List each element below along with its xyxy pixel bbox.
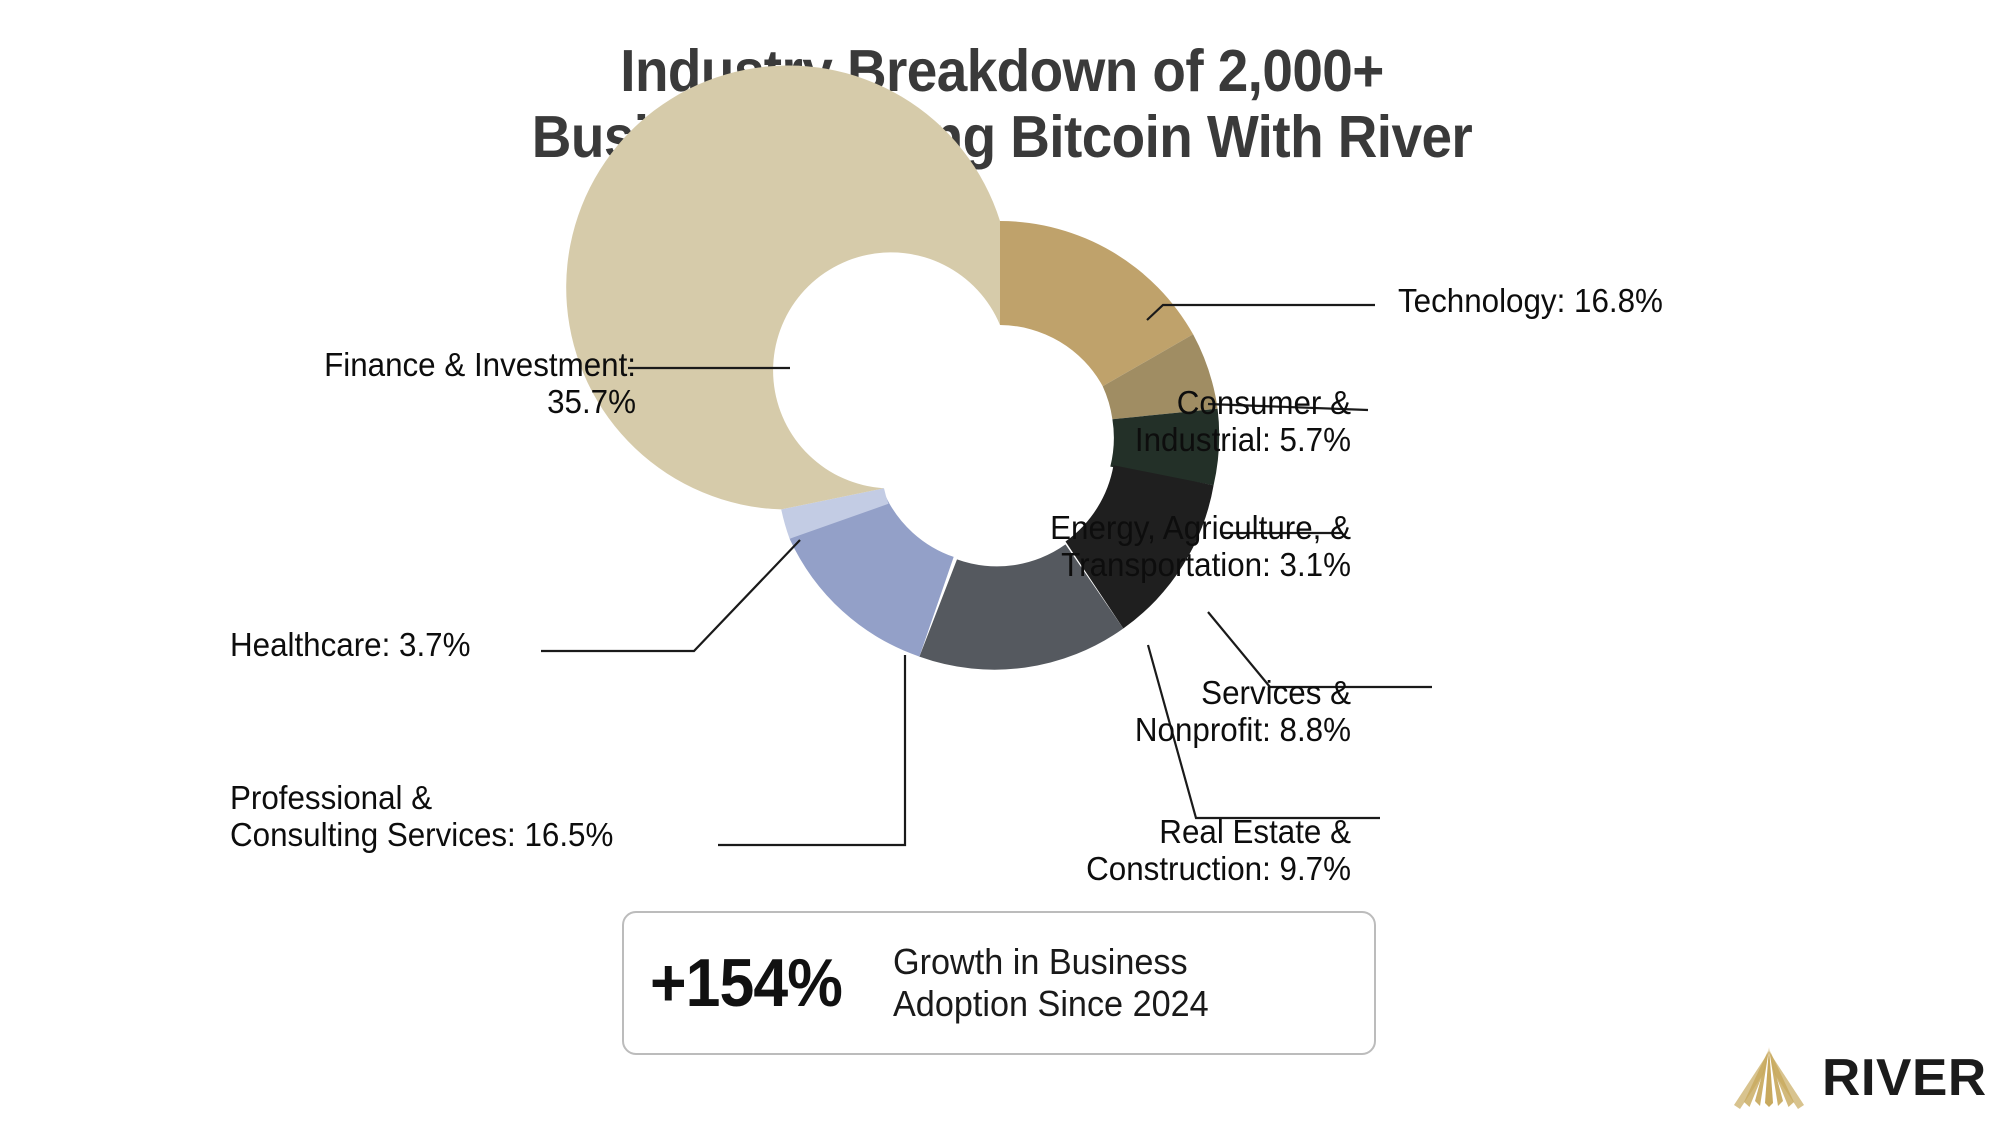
leader-line-professional [718,655,905,845]
river-wordmark: RIVER [1822,1052,1987,1104]
pie-label-services-nonprofit: Services & Nonprofit: 8.8% [952,675,1351,749]
river-mark-icon [1730,1045,1808,1111]
pie-label-technology: Technology: 16.8% [1398,283,1663,320]
stat-description: Growth in Business Adoption Since 2024 [893,941,1209,1025]
pie-label-consumer-industrial: Consumer & Industrial: 5.7% [952,385,1351,459]
leader-line-healthcare [541,540,800,651]
slice-technology[interactable] [1000,221,1193,386]
stat-value: +154% [650,944,842,1022]
page-title: Industry Breakdown of 2,000+ Businesses … [70,38,1934,170]
stat-callout-box: +154% Growth in Business Adoption Since … [622,911,1376,1055]
pie-label-finance: Finance & Investment: 35.7% [247,347,637,421]
pie-label-real-estate: Real Estate & Construction: 9.7% [952,814,1351,888]
pie-label-healthcare: Healthcare: 3.7% [230,627,470,664]
river-logo: RIVER [1730,1045,1983,1111]
pie-label-energy: Energy, Agriculture, & Transportation: 3… [895,510,1351,584]
leader-line-technology [1147,305,1375,320]
chart-canvas: Industry Breakdown of 2,000+ Businesses … [0,0,2004,1132]
pie-label-professional: Professional & Consulting Services: 16.5… [230,780,613,854]
slice-healthcare[interactable] [781,488,888,539]
